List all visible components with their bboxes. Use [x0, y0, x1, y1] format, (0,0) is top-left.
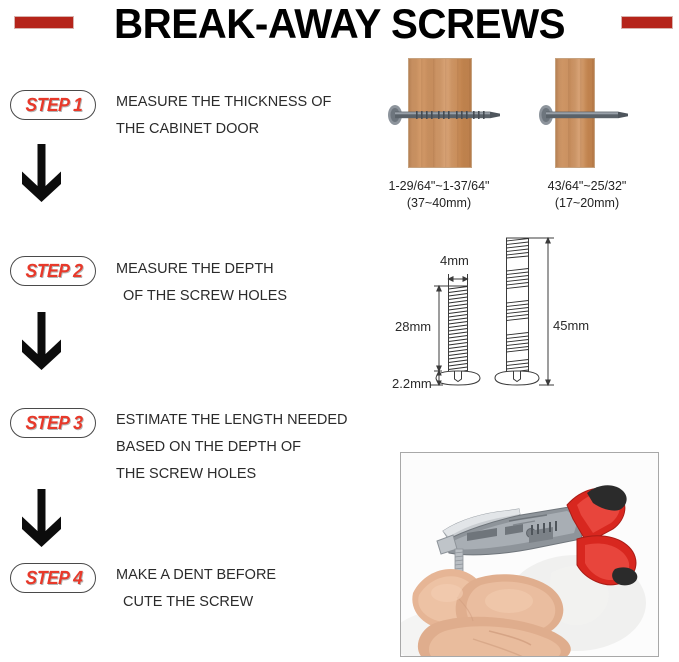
step-badge-4-label: STEP 4: [14, 564, 94, 594]
instruction-infographic: BREAK-AWAY SCREWS STEP 1 MEASURE THE THI…: [0, 0, 679, 662]
arrow-step2-to-step3: [18, 310, 64, 372]
step-badge-2-label: STEP 2: [14, 257, 94, 287]
screw-head-height-label: 2.2mm: [392, 376, 432, 391]
screw-dimension-drawing: 4mm 28mm 2.2mm 45mm: [396, 228, 586, 428]
step-3-line-2: BASED ON THE DEPTH OF: [116, 439, 301, 455]
screw-diameter-label: 4mm: [440, 253, 469, 268]
step-1-line-1: MEASURE THE THICKNESS OF: [116, 94, 331, 110]
thick-door-caption-metric: (37~40mm): [407, 196, 471, 210]
step-3-line-3: THE SCREW HOLES: [116, 466, 256, 482]
step-3-line-1: ESTIMATE THE LENGTH NEEDED: [116, 412, 348, 428]
step-4-text: MAKE A DENT BEFORE CUTE THE SCREW: [116, 562, 276, 616]
step-1-text: MEASURE THE THICKNESS OF THE CABINET DOO…: [116, 89, 331, 143]
header-rule-right: [621, 16, 673, 29]
thin-door-caption-imperial: 43/64"~25/32": [548, 179, 627, 193]
screw-through-thick-panel: [386, 104, 508, 126]
step-2-line-1: MEASURE THE DEPTH: [116, 261, 274, 277]
down-arrow-icon: [18, 310, 64, 372]
page-title: BREAK-AWAY SCREWS: [14, 0, 666, 48]
step-2-text: MEASURE THE DEPTH OF THE SCREW HOLES: [116, 256, 287, 310]
arrow-step1-to-step2: [18, 142, 64, 204]
down-arrow-icon: [18, 142, 64, 204]
thin-door-caption: 43/64"~25/32" (17~20mm): [520, 178, 654, 212]
screw-thread-length-label: 28mm: [395, 319, 431, 334]
thick-door-caption-imperial: 1-29/64"~1-37/64": [389, 179, 490, 193]
step-badge-1-label: STEP 1: [14, 91, 94, 121]
step-2-line-2: OF THE SCREW HOLES: [116, 283, 287, 310]
screw-total-length-label: 45mm: [553, 318, 589, 333]
down-arrow-icon: [18, 487, 64, 549]
step-1-line-2: THE CABINET DOOR: [116, 121, 259, 137]
step-3-text: ESTIMATE THE LENGTH NEEDED BASED ON THE …: [116, 407, 348, 488]
screw-through-thin-panel: [537, 104, 637, 126]
thick-door-caption: 1-29/64"~1-37/64" (37~40mm): [372, 178, 506, 212]
header: BREAK-AWAY SCREWS: [0, 0, 679, 52]
step-badge-4: STEP 4: [10, 563, 96, 593]
thin-door-caption-metric: (17~20mm): [555, 196, 619, 210]
step-badge-2: STEP 2: [10, 256, 96, 286]
step-badge-3: STEP 3: [10, 408, 96, 438]
step-badge-1: STEP 1: [10, 90, 96, 120]
step-badge-3-label: STEP 3: [14, 409, 94, 439]
step-4-line-1: MAKE A DENT BEFORE: [116, 567, 276, 583]
arrow-step3-to-step4: [18, 487, 64, 549]
pliers-dent-photo-svg: [401, 453, 658, 656]
pliers-dent-photo: [400, 452, 659, 657]
step-4-line-2: CUTE THE SCREW: [116, 589, 276, 616]
